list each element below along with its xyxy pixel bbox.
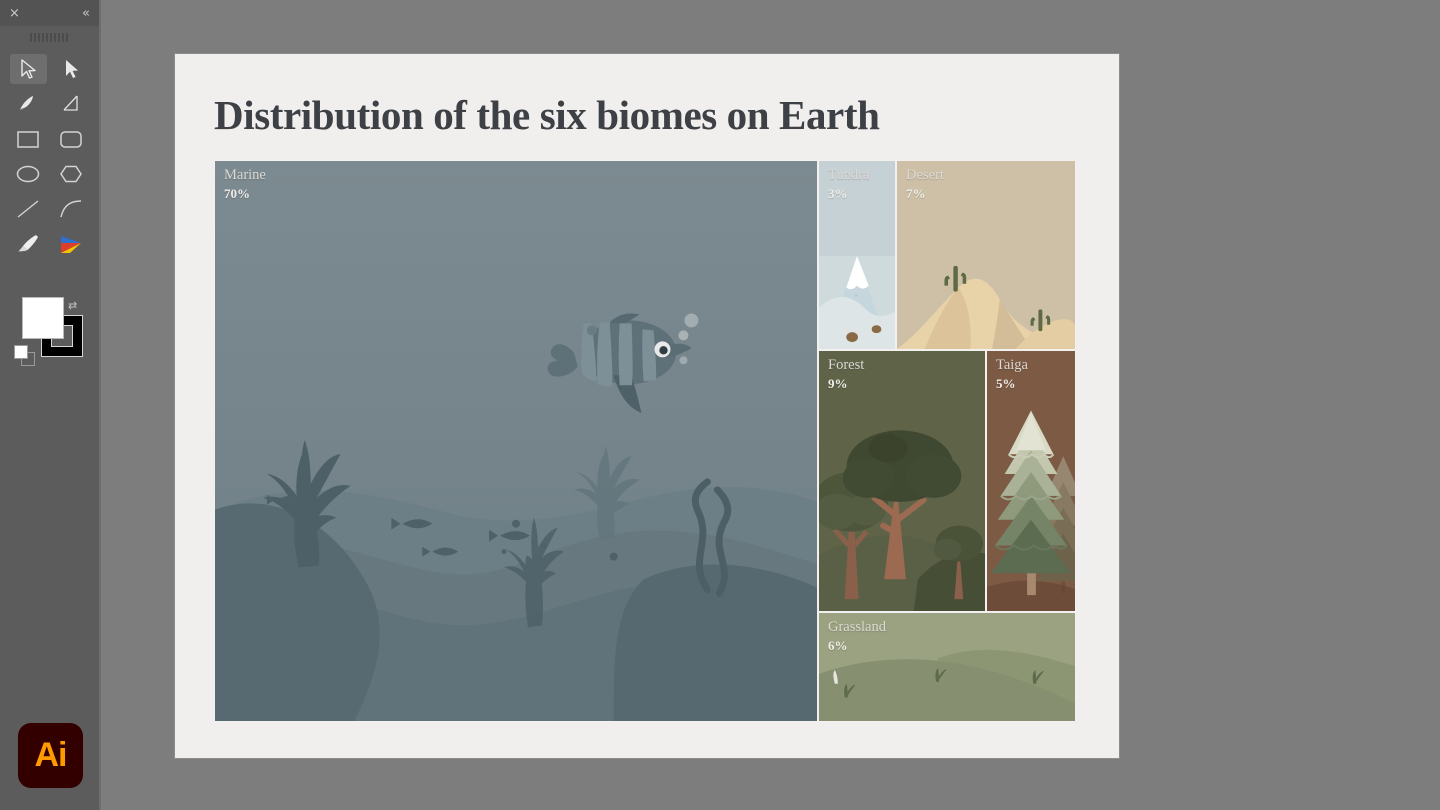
treemap-cell-marine[interactable]: Marine 70% [214, 160, 818, 722]
collapse-panel-icon[interactable]: « [82, 7, 90, 20]
direct-selection-tool[interactable] [53, 54, 90, 84]
fill-color-swatch[interactable] [22, 297, 64, 339]
curvature-tool[interactable] [53, 89, 90, 119]
tools-panel-header: × « [0, 0, 99, 26]
color-swatches: ⇄ [0, 283, 101, 383]
treemap-cell-forest[interactable]: Forest 9% [818, 350, 986, 612]
marine-illustration [215, 161, 817, 721]
treemap-cell-desert[interactable]: Desert 7% [896, 160, 1076, 350]
rounded-rectangle-tool[interactable] [53, 124, 90, 154]
ellipse-tool[interactable] [10, 159, 47, 189]
illustrator-window: × « [0, 0, 1440, 810]
arc-tool[interactable] [53, 194, 90, 224]
rectangle-tool[interactable] [10, 124, 47, 154]
treemap-cell-tundra[interactable]: Tundra 3% [818, 160, 896, 350]
pen-tool[interactable] [10, 89, 47, 119]
cell-label: Taiga [996, 358, 1028, 373]
cell-percentage: 6% [828, 639, 848, 652]
close-icon[interactable]: × [9, 7, 20, 20]
cell-percentage: 3% [828, 187, 848, 200]
cell-percentage: 5% [996, 377, 1016, 390]
cell-label: Grassland [828, 620, 886, 635]
cell-percentage: 9% [828, 377, 848, 390]
cell-label: Tundra [828, 168, 869, 183]
page-title: Distribution of the six biomes on Earth [214, 91, 880, 139]
tool-list [0, 48, 99, 259]
cell-label: Desert [906, 168, 944, 183]
polygon-tool[interactable] [53, 159, 90, 189]
cell-label: Marine [224, 168, 266, 183]
line-tool[interactable] [10, 194, 47, 224]
artboard[interactable]: Distribution of the six biomes on Earth [175, 54, 1119, 758]
selection-tool[interactable] [10, 54, 47, 84]
adobe-illustrator-app-icon[interactable]: Ai [18, 723, 83, 788]
cell-percentage: 70% [224, 187, 250, 200]
shaper-tool[interactable] [53, 229, 90, 259]
paintbrush-tool[interactable] [10, 229, 47, 259]
cell-percentage: 7% [906, 187, 926, 200]
swap-fill-stroke-icon[interactable]: ⇄ [68, 299, 77, 312]
treemap-cell-taiga[interactable]: Taiga 5% [986, 350, 1076, 612]
treemap-cell-grassland[interactable]: Grassland 6% [818, 612, 1076, 722]
panel-drag-handle[interactable] [0, 26, 99, 48]
tools-panel: × « [0, 0, 101, 810]
treemap-chart: Marine 70% [214, 160, 1076, 722]
cell-label: Forest [828, 358, 864, 373]
